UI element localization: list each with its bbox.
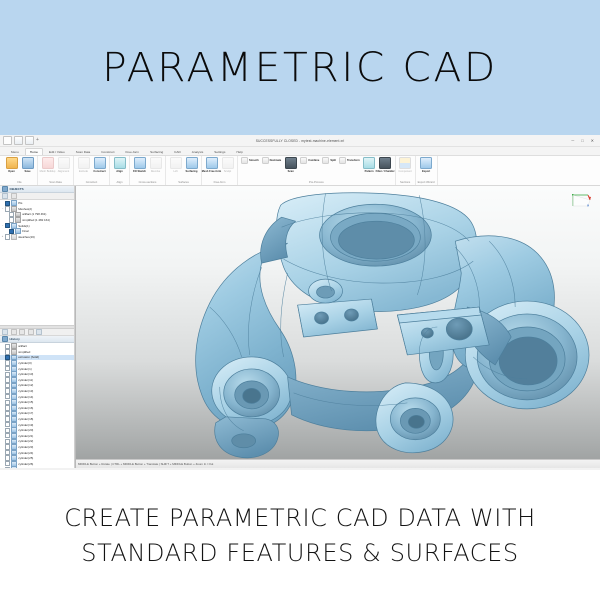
history-icon <box>2 336 8 342</box>
ribbon-group-label: Pre-Process <box>309 181 324 185</box>
ribbon-button-construct[interactable]: Construct <box>92 157 107 173</box>
mesh-icon <box>11 349 17 355</box>
align-wizard-icon <box>114 157 126 169</box>
expand-all-icon[interactable] <box>2 193 8 199</box>
tree-item-label: cylinder(12) <box>18 383 33 387</box>
status-text: MIDDLE Button + Rotate | CTRL + MIDDLE B… <box>78 462 213 466</box>
ribbon-tab-analysis[interactable]: Analysis <box>187 148 209 155</box>
component-icon <box>399 157 411 169</box>
status-bar: MIDDLE Button + Rotate | CTRL + MIDDLE B… <box>76 459 600 468</box>
tree-item-checkbox[interactable] <box>5 433 10 438</box>
tree-item-checkbox[interactable] <box>5 344 10 349</box>
transform-icon <box>339 157 346 164</box>
model-panel-header: OBJECTS <box>0 186 74 193</box>
ribbon-button-mesh-free-form[interactable]: Mesh Free-form <box>204 157 219 173</box>
history-tree[interactable]: artifactsimplifiedextrusion (Solid)cylin… <box>0 343 74 468</box>
ribbon-tab-scan-data[interactable]: Scan Data <box>71 148 95 155</box>
decimate-icon <box>262 157 269 164</box>
tree-item-checkbox[interactable] <box>5 455 10 460</box>
tree-item-checkbox[interactable] <box>5 467 10 468</box>
ribbon-button-label: Revolve <box>151 170 160 173</box>
tree-item-label: cylinder(1) <box>18 367 31 371</box>
tree-item-label: cylinder(22) <box>18 439 33 443</box>
collapse-all-icon[interactable] <box>11 193 17 199</box>
tree-item-label: artifact (1 798 461) <box>22 212 46 216</box>
ribbon-group-label: Free-form <box>214 181 226 185</box>
footer-caption: CREATE PARAMETRIC CAD DATA WITH STANDARD… <box>0 470 600 600</box>
tree-item-label: cylinder(10) <box>18 372 33 376</box>
history-last-icon[interactable] <box>28 329 34 335</box>
tree-item-checkbox[interactable] <box>5 223 10 228</box>
ribbon-button-label: Scan <box>288 170 294 173</box>
ribbon-button-label: Align <box>116 170 122 173</box>
ribbon-group-export-wizard: ExportExport Wizard <box>416 156 438 185</box>
history-panel-header: History <box>0 336 74 343</box>
tree-item-checkbox[interactable] <box>5 411 10 416</box>
ribbon-button-label: Fill Sketch <box>133 170 146 173</box>
fill-sketch-icon <box>134 157 146 169</box>
tree-item-label: cylinder(17) <box>18 411 33 415</box>
ribbon-group-items: Mesh BuildupAlignment <box>40 156 71 181</box>
revolve-icon <box>150 157 162 169</box>
scan-stack-icon <box>285 157 297 169</box>
tree-item[interactable]: +sketches(16) <box>0 234 74 240</box>
ribbon-group-label: File <box>17 181 21 185</box>
ribbon-button-transform[interactable]: Transform <box>338 157 361 164</box>
history-prev-icon[interactable] <box>11 329 17 335</box>
ribbon-button-save[interactable]: Save <box>20 157 35 173</box>
ribbon-group-items: Component <box>398 156 413 181</box>
tree-item-checkbox[interactable] <box>5 349 10 354</box>
ribbon-button-smooth[interactable]: Smooth <box>240 157 260 164</box>
ribbon-tab-free-form[interactable]: Free-form <box>121 148 145 155</box>
tree-item-checkbox[interactable] <box>5 234 10 239</box>
ribbon-group-label: Surfaces <box>178 181 189 185</box>
sketch-icon <box>11 234 17 240</box>
ribbon-group-construct: ExtrudeConstructConstruct <box>74 156 110 185</box>
ribbon-group-label: Scan Data <box>49 181 62 185</box>
ribbon-tab-menu[interactable]: Menu <box>6 148 24 155</box>
ribbon-group-free-form: Mesh Free-formSculptFree-form <box>202 156 238 185</box>
mesh-buildup-icon <box>42 157 54 169</box>
ribbon-tab-edit-video[interactable]: Edit / Video <box>44 148 70 155</box>
export-icon <box>420 157 432 169</box>
tree-item-label: cylinder(19) <box>18 423 33 427</box>
combine-icon <box>300 157 307 164</box>
ribbon-button-label: Transform <box>347 159 360 162</box>
ribbon-button-sculpt[interactable]: Sculpt <box>220 157 235 173</box>
history-next-icon[interactable] <box>19 329 25 335</box>
ribbon-tab-cad[interactable]: CAD <box>169 148 186 155</box>
solid-icon <box>11 377 17 383</box>
ribbon-button-label: Extrude <box>79 170 88 173</box>
construct-solid-icon <box>94 157 106 169</box>
ribbon-group-label: Sections <box>400 181 410 185</box>
tree-item-checkbox[interactable] <box>5 422 10 427</box>
ribbon-group-items: LoftSurfacing <box>168 156 199 181</box>
ribbon-tab-surfacing[interactable]: Surfacing <box>145 148 168 155</box>
window-title: SUCCESSFULLY CLOSED - mytest-machine-ele… <box>0 139 600 143</box>
ribbon-button-label: Pattern <box>365 170 374 173</box>
tree-item-label: cylinder(18) <box>18 417 33 421</box>
tree-item-checkbox[interactable] <box>5 360 10 365</box>
ribbon-button-label: Save <box>24 170 30 173</box>
tree-item-label: simplified (1 482 164) <box>22 218 50 222</box>
ribbon-group-label: Construct <box>86 181 98 185</box>
ribbon-group-items: Mesh Free-formSculpt <box>204 156 235 181</box>
tree-item-label: cylinder(24) <box>18 451 33 455</box>
solid-icon <box>11 466 17 467</box>
ribbon-button-label: Combine <box>308 159 319 162</box>
solid-icon <box>11 405 17 411</box>
ribbon-group-cross-sections: Fill SketchRevolveCross-sections <box>130 156 166 185</box>
tree-twisty-icon[interactable]: − <box>1 224 4 227</box>
ribbon-button-mesh-buildup[interactable]: Mesh Buildup <box>40 157 55 173</box>
tree-item-checkbox[interactable] <box>5 450 10 455</box>
tree-item-checkbox[interactable] <box>5 372 10 377</box>
cad-model[interactable] <box>76 186 600 468</box>
tree-item-checkbox[interactable] <box>5 444 10 449</box>
ribbon-button-component[interactable]: Component <box>398 157 413 173</box>
tree-item-label: simplified <box>18 350 30 354</box>
tree-item-checkbox[interactable] <box>5 416 10 421</box>
tree-item-label: Solids(1) <box>18 224 29 228</box>
save-disk-icon <box>22 157 34 169</box>
sculpt-icon <box>222 157 234 169</box>
tree-item-checkbox[interactable] <box>5 383 10 388</box>
ribbon-tab-help[interactable]: Help <box>231 148 247 155</box>
model-tree[interactable]: Pts−Meshes(2)artifact (1 798 461)simplif… <box>0 200 74 325</box>
tree-item-checkbox[interactable] <box>5 394 10 399</box>
ribbon-button-scan[interactable]: Scan <box>283 157 298 173</box>
extrude-icon <box>78 157 90 169</box>
workspace: OBJECTS Pts−Meshes(2)artifact (1 798 461… <box>0 186 600 468</box>
tree-item-label: cylinder(13) <box>18 389 33 393</box>
ribbon-group-file: OpenSaveFile <box>2 156 38 185</box>
ribbon-button-label: Mesh Buildup <box>40 170 56 173</box>
folder-open-icon <box>6 157 18 169</box>
ribbon-button-label: Open <box>8 170 15 173</box>
solid-icon <box>11 433 17 439</box>
split-icon <box>322 157 329 164</box>
ribbon-button-open[interactable]: Open <box>4 157 19 173</box>
ribbon-group-pre-process: SmoothDecimateScanCombineSplitTransformP… <box>238 156 396 185</box>
tree-item-label: artifact <box>18 344 27 348</box>
tree-item-checkbox[interactable] <box>5 355 10 360</box>
tree-item-checkbox[interactable] <box>5 461 10 466</box>
ribbon-tab-home[interactable]: Home <box>25 148 43 155</box>
tree-item-label: cylinder(21) <box>18 434 33 438</box>
ribbon-button-label: Loft <box>173 170 177 173</box>
tree-item-label: Meshes(2) <box>18 207 32 211</box>
history-panel-toolbar[interactable] <box>0 329 74 336</box>
tree-item-checkbox[interactable] <box>9 212 14 217</box>
tree-item-checkbox[interactable] <box>5 439 10 444</box>
tree-item-label: cylinder(0) <box>18 361 31 365</box>
tree-item-checkbox[interactable] <box>9 217 14 222</box>
tree-item-label: cylinder(11) <box>18 378 33 382</box>
history-first-icon[interactable] <box>2 329 8 335</box>
ribbon-button-label: Sculpt <box>224 170 231 173</box>
tree-item-label: Pts <box>18 201 22 205</box>
tree-item-checkbox[interactable] <box>5 400 10 405</box>
ribbon-button-split[interactable]: Split <box>321 157 337 164</box>
ribbon-tab-bar[interactable]: MenuHomeEdit / VideoScan DataConstructFr… <box>0 147 600 156</box>
ribbon-group-scan-data: Mesh BuildupAlignmentScan Data <box>38 156 74 185</box>
mesh-icon <box>11 206 17 212</box>
ribbon-button-label: Surfacing <box>186 170 198 173</box>
ribbon-tab-construct[interactable]: Construct <box>96 148 119 155</box>
ribbon-toolbar[interactable]: OpenSaveFileMesh BuildupAlignmentScan Da… <box>0 156 600 186</box>
left-panel-column: OBJECTS Pts−Meshes(2)artifact (1 798 461… <box>0 186 75 468</box>
ribbon-button-pattern[interactable]: Pattern <box>362 157 377 173</box>
caption-line-2: STANDARD FEATURES & SURFACES <box>81 539 519 567</box>
model-tree-icon <box>2 186 8 192</box>
ribbon-group-items: Fill SketchRevolve <box>132 156 163 181</box>
tree-item-label: extrusion (Solid) <box>18 355 39 359</box>
ribbon-button-label: Decimate <box>270 159 282 162</box>
tree-item-label: cylinder(25) <box>18 456 33 460</box>
filter-chamfer-icon <box>379 157 391 169</box>
model-panel-toolbar[interactable] <box>0 193 74 200</box>
tree-item-checkbox[interactable] <box>5 388 10 393</box>
ribbon-group-label: Align <box>117 181 123 185</box>
tree-item-label: cylinder(20) <box>18 428 33 432</box>
ribbon-button-label: Mesh Free-form <box>202 170 221 173</box>
tree-item-label: cylinder(26) <box>18 462 33 466</box>
ribbon-button-fill-sketch[interactable]: Fill Sketch <box>132 157 147 173</box>
mesh-freeform-icon <box>206 157 218 169</box>
title-bar: + SUCCESSFULLY CLOSED - mytest-machine-e… <box>0 135 600 147</box>
history-panel-title: History <box>10 337 20 341</box>
axis-triad <box>568 190 594 210</box>
tree-item-label: cylinder(16) <box>18 406 33 410</box>
tree-item-checkbox[interactable] <box>5 206 10 211</box>
page-title: PARAMETRIC CAD <box>102 45 498 91</box>
ribbon-button-label: Component <box>398 170 411 173</box>
tree-item[interactable]: cylinder(27) <box>0 467 74 468</box>
tree-twisty-icon[interactable]: + <box>1 235 4 238</box>
tree-item-label: cylinder(14) <box>18 395 33 399</box>
ribbon-button-label: Filter / Chamfer <box>376 170 395 173</box>
ribbon-group-items: Align <box>112 156 127 181</box>
ribbon-group-items: SmoothDecimateScanCombineSplitTransformP… <box>240 156 393 181</box>
ribbon-button-export[interactable]: Export <box>419 157 434 173</box>
history-play-icon[interactable] <box>36 329 42 335</box>
alignment-icon <box>58 157 70 169</box>
header-banner: PARAMETRIC CAD <box>0 0 600 135</box>
ribbon-button-label: Construct <box>93 170 105 173</box>
ribbon-button-label: Export <box>422 170 430 173</box>
ribbon-group-align: AlignAlign <box>110 156 130 185</box>
smooth-icon <box>241 157 248 164</box>
tree-item-checkbox[interactable] <box>5 405 10 410</box>
ribbon-group-label: Export Wizard <box>418 181 435 185</box>
ribbon-button-extrude[interactable]: Extrude <box>76 157 91 173</box>
caption-line-1: CREATE PARAMETRIC CAD DATA WITH <box>64 504 536 532</box>
ribbon-button-loft[interactable]: Loft <box>168 157 183 173</box>
ribbon-button-label: Smooth <box>249 159 259 162</box>
ribbon-button-label: Alignment <box>58 170 70 173</box>
ribbon-group-surfaces: LoftSurfacingSurfaces <box>166 156 202 185</box>
3d-viewport[interactable]: MIDDLE Button + Rotate | CTRL + MIDDLE B… <box>75 186 600 468</box>
cad-application-window: + SUCCESSFULLY CLOSED - mytest-machine-e… <box>0 135 600 470</box>
tree-item-label: sketches(16) <box>18 235 35 239</box>
ribbon-group-label: Cross-sections <box>139 181 157 185</box>
ribbon-group-sections: ComponentSections <box>396 156 416 185</box>
pattern-icon <box>363 157 375 169</box>
ribbon-button-revolve[interactable]: Revolve <box>148 157 163 173</box>
surfacing-icon <box>186 157 198 169</box>
ribbon-group-items: OpenSave <box>4 156 35 181</box>
tree-item-checkbox[interactable] <box>5 428 10 433</box>
loft-icon <box>170 157 182 169</box>
tree-item-label: cylinder(23) <box>18 445 33 449</box>
tree-item-checkbox[interactable] <box>5 201 10 206</box>
ribbon-group-items: Export <box>419 156 434 181</box>
tree-item-checkbox[interactable] <box>5 377 10 382</box>
ribbon-tab-settings[interactable]: Settings <box>209 148 230 155</box>
ribbon-button-decimate[interactable]: Decimate <box>261 157 283 164</box>
ribbon-button-filter-chamfer[interactable]: Filter / Chamfer <box>378 157 393 173</box>
tree-item-checkbox[interactable] <box>5 366 10 371</box>
ribbon-group-items: ExtrudeConstruct <box>76 156 107 181</box>
tree-item-label: Final <box>22 229 28 233</box>
ribbon-button-surfacing[interactable]: Surfacing <box>184 157 199 173</box>
tree-twisty-icon[interactable]: − <box>1 207 4 210</box>
ribbon-button-label: Split <box>330 159 336 162</box>
ribbon-button-alignment[interactable]: Alignment <box>56 157 71 173</box>
ribbon-button-align[interactable]: Align <box>112 157 127 173</box>
model-panel-title: OBJECTS <box>10 187 24 191</box>
tree-item-label: cylinder(15) <box>18 400 33 404</box>
ribbon-button-combine[interactable]: Combine <box>299 157 320 164</box>
